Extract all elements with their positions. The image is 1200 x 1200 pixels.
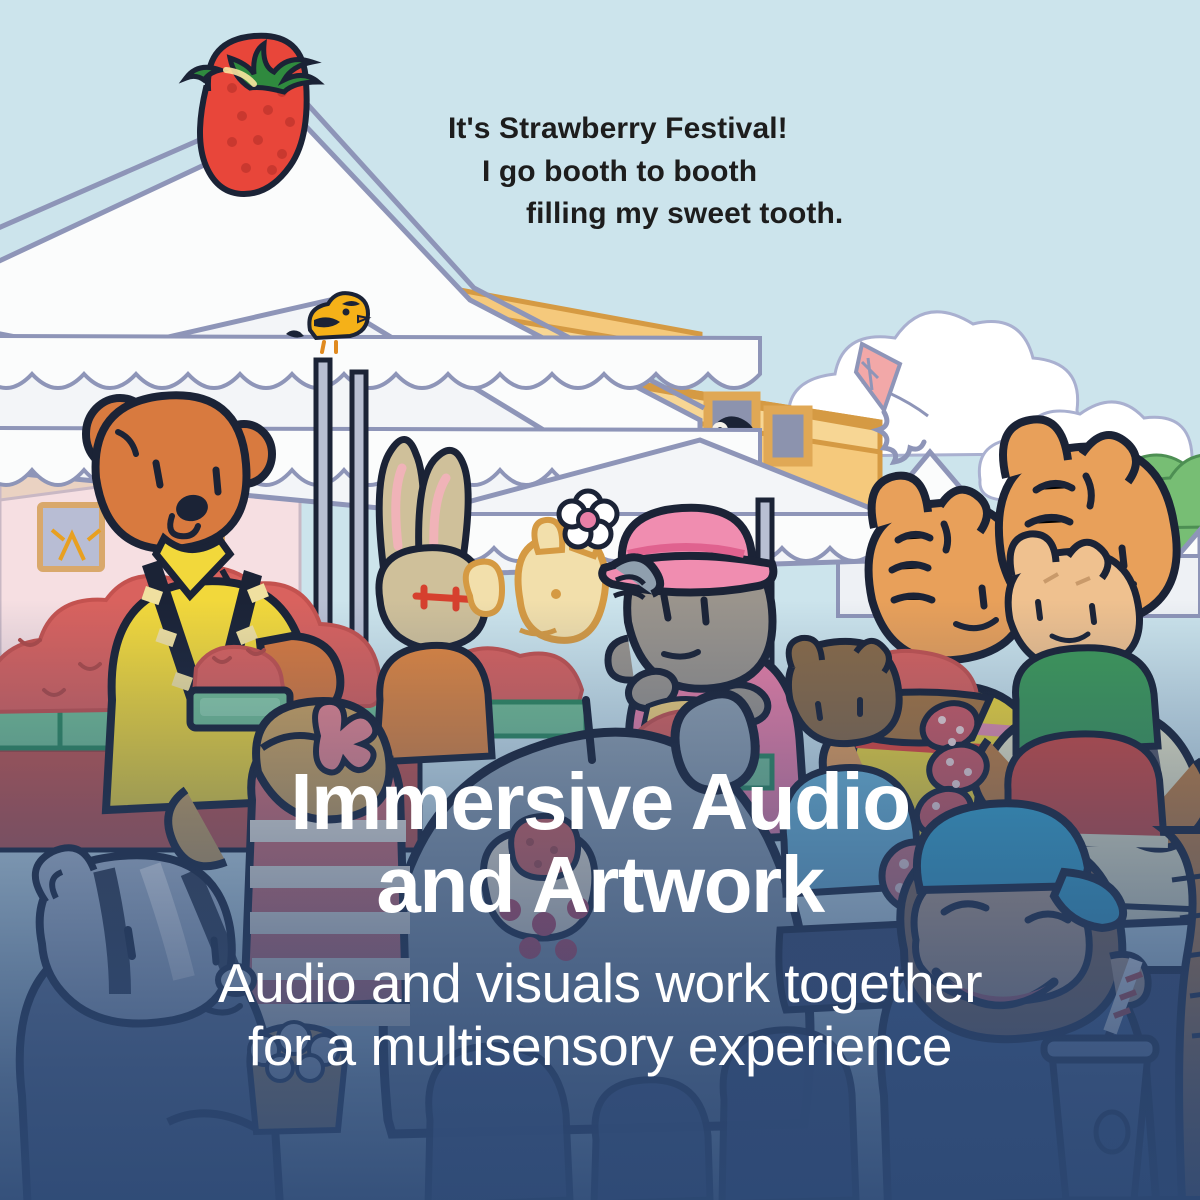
headline-line-1: Immersive Audio [290, 760, 909, 843]
quote-line-1: It's Strawberry Festival! [430, 108, 930, 151]
subhead-line-2: for a multisensory experience [218, 1015, 982, 1078]
book-quote: It's Strawberry Festival! I go booth to … [430, 108, 930, 236]
quote-line-2: I go booth to booth [430, 151, 930, 194]
subhead-line-1: Audio and visuals work together [218, 952, 982, 1015]
headline-line-2: and Artwork [290, 843, 909, 926]
quote-line-3: filling my sweet tooth. [430, 193, 930, 236]
promo-image: It's Strawberry Festival! I go booth to … [0, 0, 1200, 1200]
subheadline: Audio and visuals work together for a mu… [218, 952, 982, 1077]
promo-overlay: Immersive Audio and Artwork Audio and vi… [0, 760, 1200, 1078]
headline: Immersive Audio and Artwork [290, 760, 909, 926]
